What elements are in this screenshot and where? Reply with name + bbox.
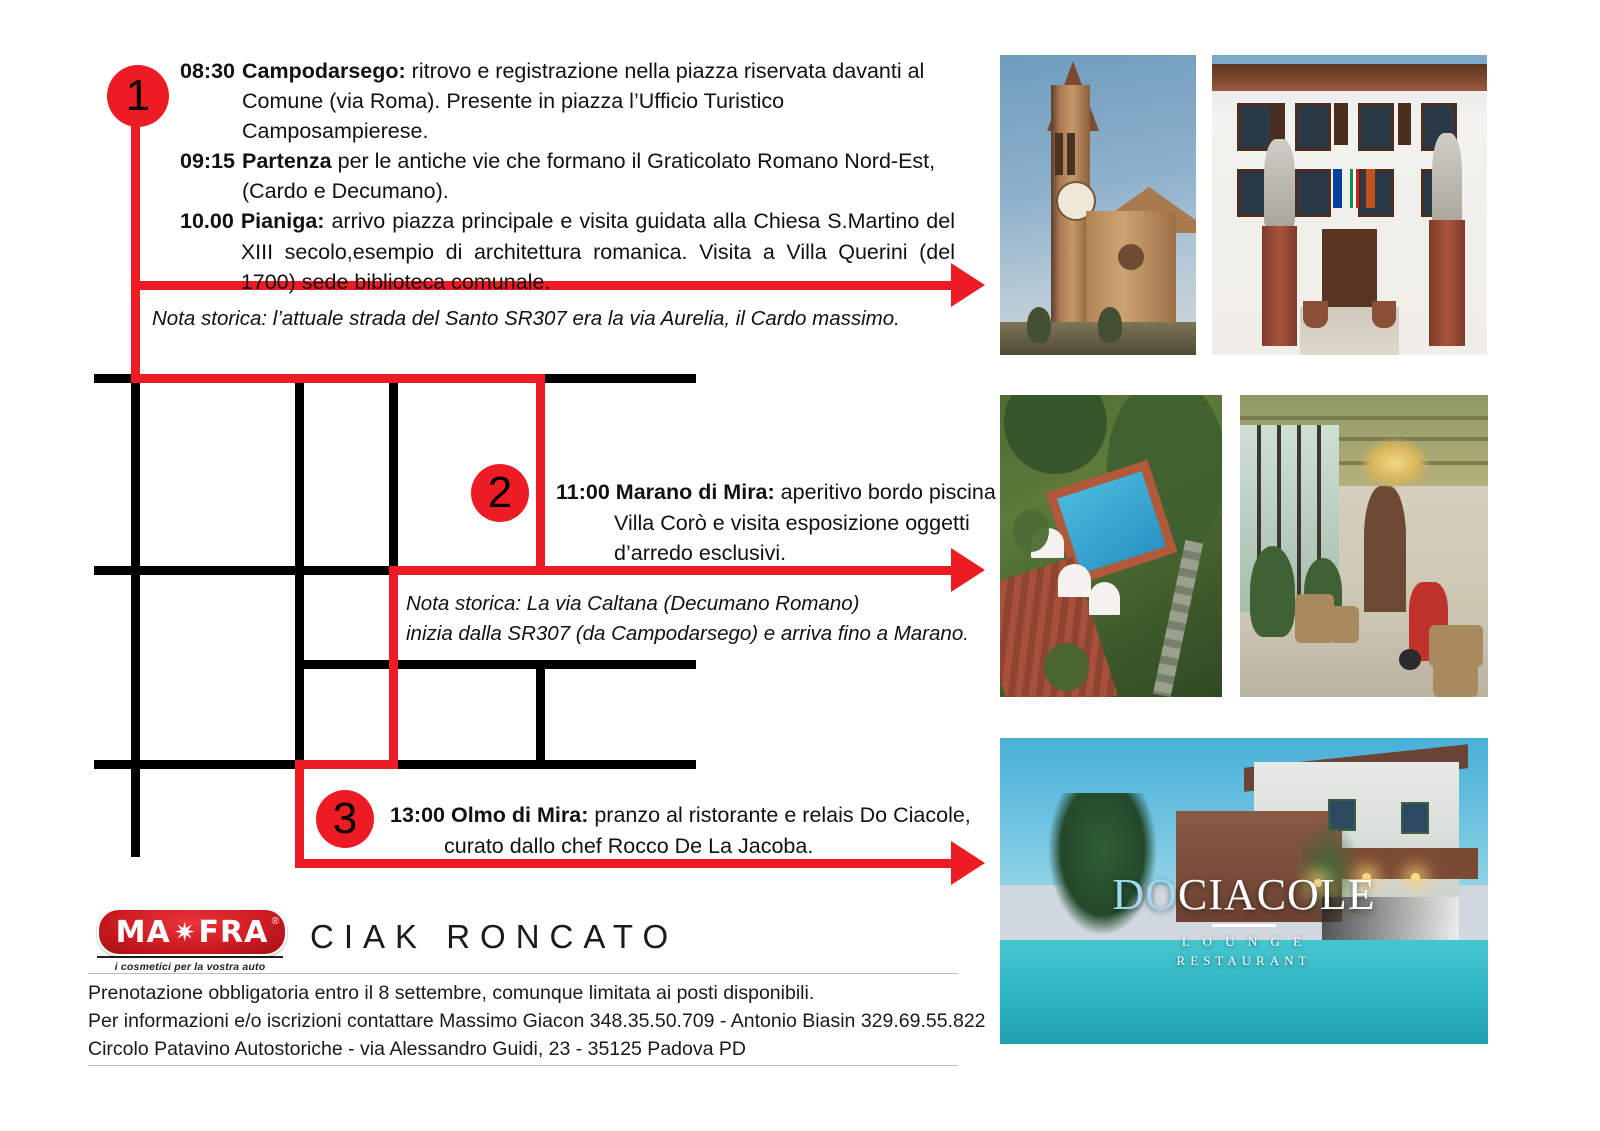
stop-3-place: Olmo di Mira: (451, 803, 588, 827)
church-bush-left (1027, 307, 1051, 343)
villa-window (1295, 103, 1331, 151)
ciak-roncato-logo: CIAK RONCATO (310, 918, 678, 956)
church-pianiga-photo (1000, 55, 1196, 355)
villa-statue-right (1432, 133, 1462, 229)
route-segment-stop1-down (131, 290, 140, 378)
villa-window (1358, 169, 1394, 217)
stop-2-note-line-2: inizia dalla SR307 (da Campodarsego) e a… (406, 619, 1006, 649)
villa-coro-pool-photo (1000, 395, 1222, 697)
star-icon: ✷ (174, 917, 196, 948)
villa-shutter (1398, 103, 1412, 145)
church-belfry-opening-right (1067, 133, 1075, 175)
stop-1-line-3-detail: arrivo piazza principale e visita guidat… (241, 209, 955, 293)
stop-marker-1[interactable]: 1 (107, 65, 169, 127)
route-segment-stop2-down (389, 566, 398, 769)
portico-plant (1250, 546, 1295, 637)
stop-marker-1-label: 1 (126, 74, 150, 118)
chandelier-icon (1359, 437, 1431, 489)
do-ciacole-logo-main: CIACOLE (1178, 870, 1376, 919)
grid-horizontal-line-lower (295, 660, 696, 669)
villa-window (1237, 103, 1273, 151)
stop-3-time: 13:00 (390, 803, 445, 827)
stop-2-text-block: 11:00 Marano di Mira: aperitivo bordo pi… (556, 477, 1034, 569)
stop-3-text-block: 13:00 Olmo di Mira: pranzo al ristorante… (390, 800, 1014, 861)
footer-line-1: Prenotazione obbligatoria entro il 8 set… (88, 979, 968, 1007)
villa-flag-veneto (1366, 169, 1375, 208)
portico-wicker-chair (1433, 655, 1478, 697)
stop-marker-3[interactable]: 3 (316, 790, 374, 848)
mafra-tagline-rule (97, 956, 283, 958)
villa-flower-pot-right (1372, 301, 1397, 328)
stop-2-historical-note: Nota storica: La via Caltana (Decumano R… (406, 589, 1006, 648)
grid-vertical-line-mid1 (295, 374, 304, 769)
stop-2-place: Marano di Mira: (616, 480, 775, 504)
vespa-wheel (1399, 649, 1421, 670)
restaurant-window (1401, 802, 1429, 834)
stop-1-text-block: 08:30 Campodarsego: ritrovo e registrazi… (180, 56, 955, 297)
stop-1-line-3-body: Pianiga: arrivo piazza principale e visi… (241, 206, 955, 296)
do-ciacole-logo-name: DOCIACOLE (1088, 873, 1400, 917)
mafra-logo-pill: MA ✷ FRA ® (97, 908, 287, 956)
do-ciacole-logo-sub-1: L O U N G E (1088, 932, 1400, 952)
route-arrow-head-1 (951, 263, 985, 307)
route-segment-stop1-stem (131, 120, 140, 290)
stop-marker-2[interactable]: 2 (471, 464, 529, 522)
villa-shutter (1334, 103, 1348, 145)
registered-trademark-icon: ® (272, 916, 279, 927)
stop-1-line-1: 08:30 Campodarsego: ritrovo e registrazi… (180, 56, 955, 146)
stop-1-historical-note: Nota storica: l’attuale strada del Santo… (152, 304, 952, 334)
route-segment-to-stop3 (295, 760, 398, 769)
mafra-tagline: i cosmetici per la vostra auto (97, 961, 283, 973)
villa-entrance-door (1322, 229, 1377, 307)
stop-1-line-2-place: Partenza (242, 149, 332, 173)
mafra-logo-right: FRA (199, 915, 269, 950)
route-segment-stop3-down (295, 760, 304, 868)
villa-pillar-right (1429, 220, 1465, 346)
stop-1-line-3-place: Pianiga: (241, 209, 325, 233)
do-ciacole-logo-sub-2: RESTAURANT (1088, 951, 1400, 971)
footer-line-3: Circolo Patavino Autostoriche - via Ales… (88, 1035, 968, 1063)
stop-marker-3-label: 3 (333, 797, 357, 841)
stop-1-line-1-place: Campodarsego: (242, 59, 406, 83)
church-bush-right (1098, 307, 1122, 343)
do-ciacole-logo-rule (1212, 924, 1276, 927)
church-belfry-opening-left (1055, 133, 1063, 175)
stop-1-line-1-body: Campodarsego: ritrovo e registrazione ne… (242, 56, 955, 146)
pool-umbrella (1058, 564, 1091, 597)
villa-flag-italy (1350, 169, 1359, 208)
villa-statue-left (1264, 139, 1294, 229)
stop-1-line-2-detail: per le antiche vie che formano il Gratic… (242, 149, 935, 203)
stop-2-note-line-1: Nota storica: La via Caltana (Decumano R… (406, 589, 1006, 619)
route-segment-to-stop2-down (536, 374, 545, 570)
restaurant-light (1411, 873, 1420, 882)
route-segment-decumano-top (131, 374, 542, 383)
footer-divider-top (88, 973, 958, 974)
grid-vertical-line-left (131, 374, 140, 857)
villa-coro-portico-photo (1240, 395, 1488, 697)
stop-2-time: 11:00 (556, 480, 610, 504)
villa-window (1358, 103, 1394, 151)
villa-flag-eu (1333, 169, 1342, 208)
stop-1-line-2-body: Partenza per le antiche vie che formano … (242, 146, 955, 206)
do-ciacole-restaurant-photo: DOCIACOLE L O U N G E RESTAURANT (1000, 738, 1488, 1044)
grid-vertical-line-right (536, 660, 545, 769)
stop-1-line-3-time: 10.00 (180, 206, 234, 296)
villa-flower-pot-left (1303, 301, 1328, 328)
portico-archway (1364, 486, 1406, 613)
church-rose-window (1118, 244, 1144, 270)
villa-roof (1212, 64, 1487, 91)
stop-1-line-3: 10.00 Pianiga: arrivo piazza principale … (180, 206, 955, 296)
footer-line-2: Per informazioni e/o iscrizioni contatta… (88, 1007, 988, 1035)
stop-1-line-2-time: 09:15 (180, 146, 235, 206)
do-ciacole-logo-o: O (1145, 870, 1178, 919)
portico-beam (1240, 416, 1488, 420)
do-ciacole-logo: DOCIACOLE L O U N G E RESTAURANT (1088, 873, 1400, 971)
pool-umbrella (1089, 582, 1120, 615)
pool-shrub (1013, 510, 1049, 552)
mafra-logo: MA ✷ FRA ® i cosmetici per la vostra aut… (97, 908, 283, 973)
pool-shrub (1044, 643, 1088, 691)
villa-window (1295, 169, 1331, 217)
portico-wicker-table (1329, 606, 1359, 642)
stop-1-line-1-time: 08:30 (180, 56, 235, 146)
villa-querini-photo (1212, 55, 1487, 355)
do-ciacole-logo-do: D (1112, 870, 1145, 919)
portico-wicker-chair (1295, 594, 1335, 642)
mafra-logo-left: MA (116, 915, 171, 950)
stop-marker-2-label: 2 (488, 471, 512, 515)
villa-pillar-left (1262, 226, 1298, 346)
footer-divider-bottom (88, 1065, 958, 1066)
stop-1-line-2: 09:15 Partenza per le antiche vie che fo… (180, 146, 955, 206)
